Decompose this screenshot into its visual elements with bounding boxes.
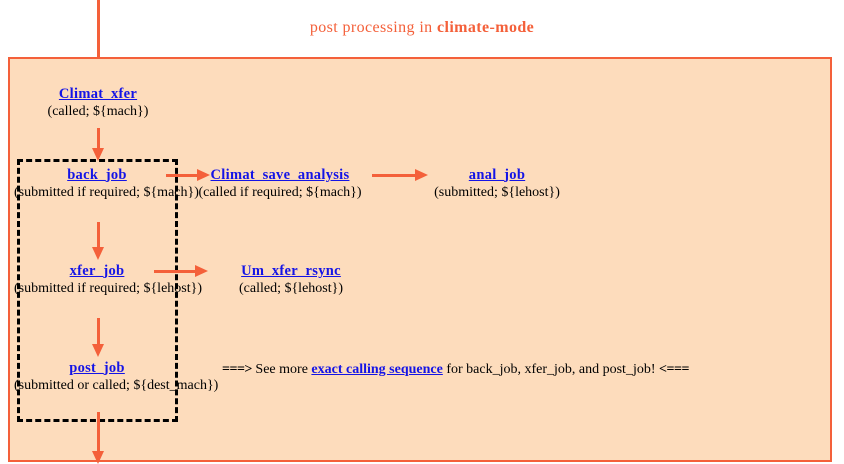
footnote-marker-right: <=== <box>659 362 689 377</box>
link-climat-xfer[interactable]: Climat_xfer <box>59 86 137 103</box>
node-post-job: post_job (submitted or called; ${dest_ma… <box>14 360 180 394</box>
arrow-xfer-job-to-post-job <box>91 318 105 357</box>
arrow-head <box>92 451 104 464</box>
node-climat-xfer-description: (called; ${mach}) <box>28 103 168 120</box>
node-climat-xfer: Climat_xfer (called; ${mach}) <box>28 86 168 120</box>
footnote-text-after: for back_job, xfer_job, and post_job! <box>446 362 655 377</box>
arrow-head <box>92 247 104 260</box>
arrow-shaft <box>97 318 100 346</box>
node-um-xfer-rsync-description: (called; ${lehost}) <box>216 280 366 297</box>
arrow-post-job-outgoing-bottom <box>91 412 105 464</box>
diagram-page: post processing in climate-mode <box>0 0 844 464</box>
page-title: post processing in climate-mode <box>0 19 844 37</box>
footnote: ===> See more exact calling sequence for… <box>222 361 689 379</box>
arrow-shaft <box>97 222 100 249</box>
page-title-prefix: post processing in <box>310 19 437 36</box>
arrow-shaft <box>97 128 100 150</box>
node-climat-save-analysis-description: (called if required; ${mach}) <box>182 184 378 201</box>
link-um-xfer-rsync[interactable]: Um_xfer_rsync <box>241 263 341 280</box>
node-um-xfer-rsync: Um_xfer_rsync (called; ${lehost}) <box>216 263 366 297</box>
node-anal-job: anal_job (submitted; ${lehost}) <box>412 167 582 201</box>
footnote-marker-left: ===> <box>222 362 252 377</box>
arrow-head <box>92 148 104 161</box>
arrow-head <box>92 344 104 357</box>
link-anal-job[interactable]: anal_job <box>469 167 525 184</box>
link-xfer-job[interactable]: xfer_job <box>70 263 125 280</box>
arrow-shaft <box>372 174 417 177</box>
node-back-job: back_job (submitted if required; ${mach}… <box>14 167 180 201</box>
link-back-job[interactable]: back_job <box>67 167 127 184</box>
link-post-job[interactable]: post_job <box>69 360 125 377</box>
node-back-job-description: (submitted if required; ${mach}) <box>14 184 180 201</box>
node-xfer-job: xfer_job (submitted if required; ${lehos… <box>14 263 180 297</box>
node-climat-save-analysis: Climat_save_analysis (called if required… <box>182 167 378 201</box>
footnote-text-before: See more <box>255 362 307 377</box>
node-post-job-description: (submitted or called; ${dest_mach}) <box>14 377 180 394</box>
node-anal-job-description: (submitted; ${lehost}) <box>412 184 582 201</box>
link-climat-save-analysis[interactable]: Climat_save_analysis <box>211 167 350 184</box>
arrow-shaft <box>97 412 100 453</box>
page-title-emphasis: climate-mode <box>437 19 534 36</box>
node-xfer-job-description: (submitted if required; ${lehost}) <box>14 280 180 297</box>
arrow-climat-xfer-to-back-job <box>91 128 105 161</box>
link-exact-calling-sequence[interactable]: exact calling sequence <box>311 362 442 377</box>
arrow-back-job-to-xfer-job <box>91 222 105 260</box>
arrow-head <box>195 265 208 277</box>
